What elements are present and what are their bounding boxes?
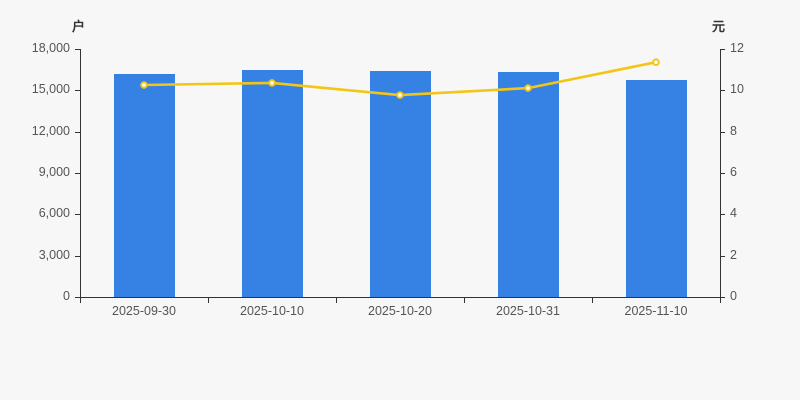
line-marker-2025-10-31[interactable]: 2025-10-31: 10.11元 [525,85,531,91]
line-marker-2025-10-20[interactable]: 2025-10-20: 9.77元 [397,92,403,98]
chart-canvas: 户 元 03,0006,0009,00012,00015,00018,000 0… [0,0,800,400]
line-marker-2025-09-30[interactable]: 2025-09-30: 10.26元 [141,82,147,88]
line-path [144,62,656,95]
line-marker-2025-11-10[interactable]: 2025-11-10: 11.36元 [653,59,659,65]
line-series-layer: 2025-09-30: 10.26元2025-10-10: 10.36元2025… [0,0,800,400]
line-marker-2025-10-10[interactable]: 2025-10-10: 10.36元 [269,80,275,86]
line-series-svg: 2025-09-30: 10.26元2025-10-10: 10.36元2025… [0,0,800,400]
